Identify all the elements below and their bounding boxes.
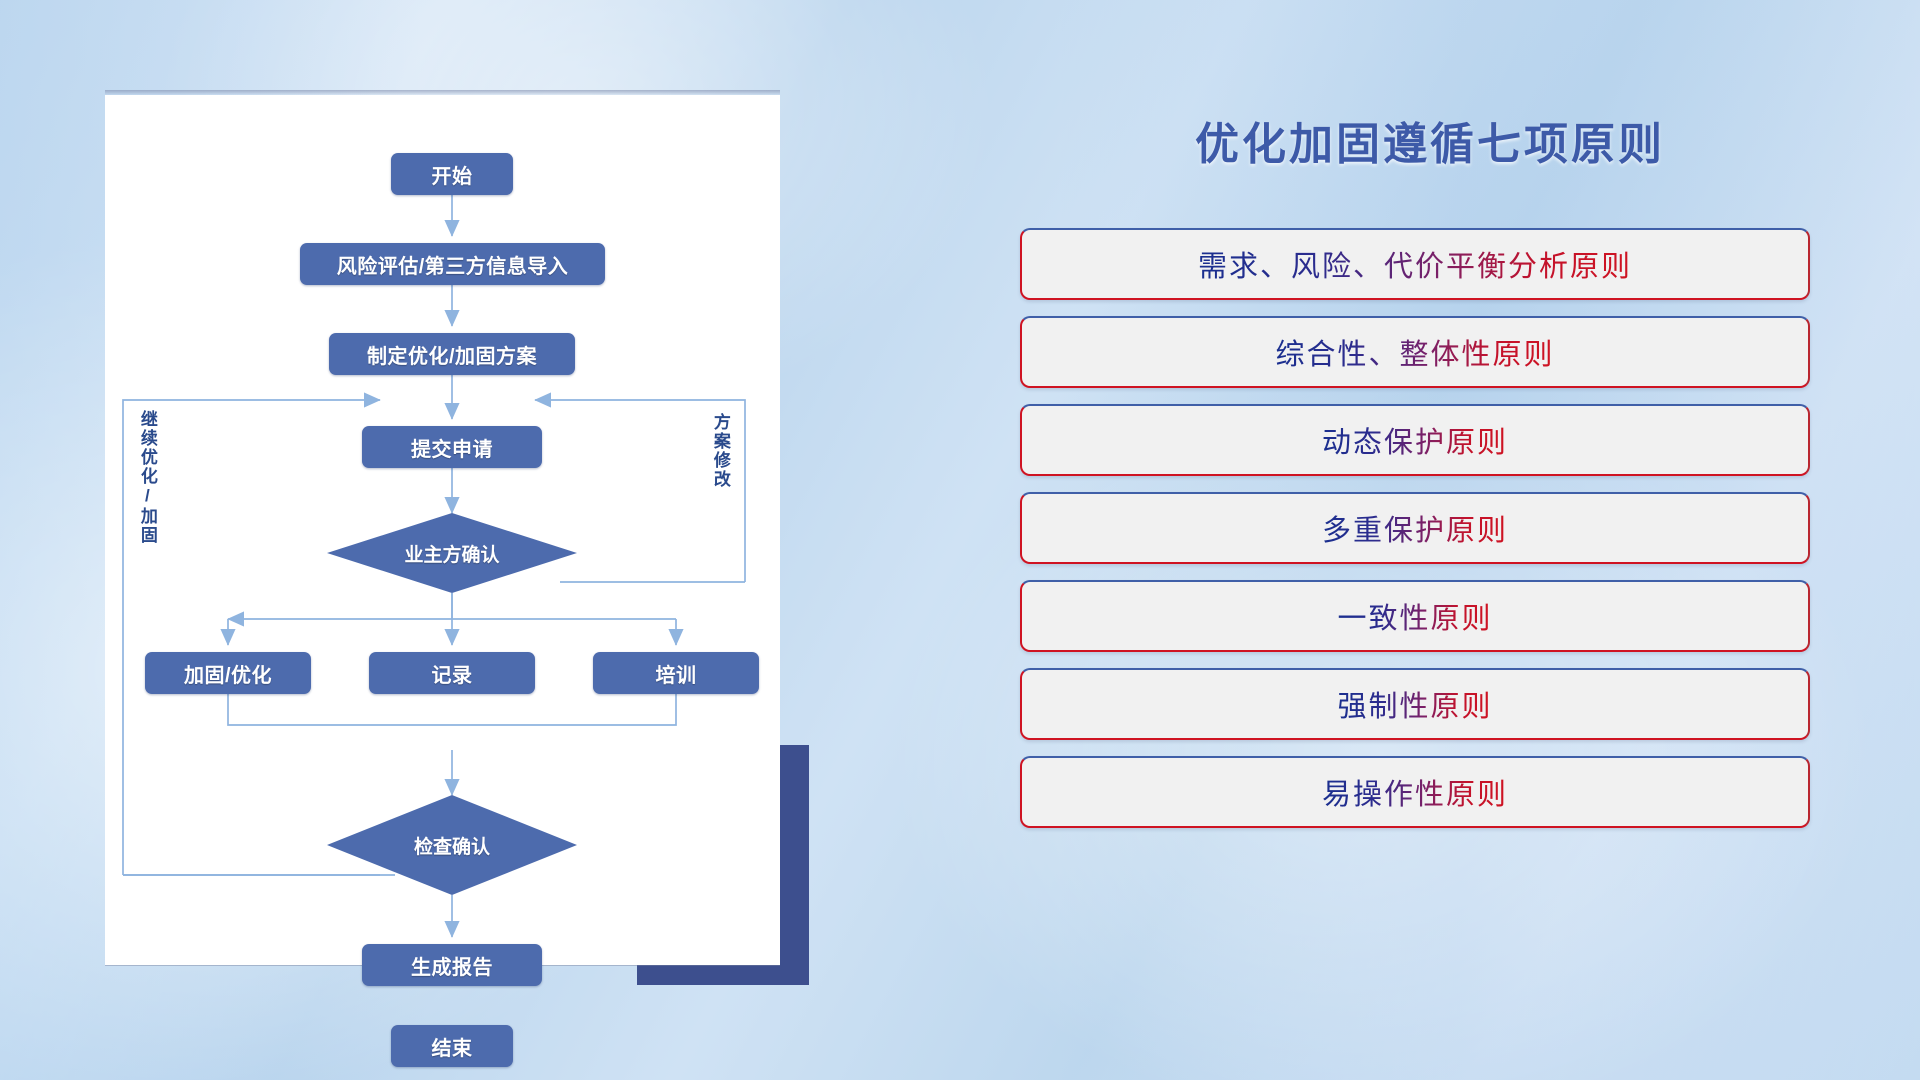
flow-node-reinforce-label: 加固/优化 [184,659,272,688]
flow-node-start-label: 开始 [432,160,473,189]
principles-list: 需求、风险、代价平衡分析原则 综合性、整体性原则 动态保护原则 多重保护原则 一… [1020,228,1810,844]
flow-decision-check-confirm-label: 检查确认 [414,832,490,859]
principle-item-1[interactable]: 需求、风险、代价平衡分析原则 [1020,228,1810,300]
flow-node-risk-assessment[interactable]: 风险评估/第三方信息导入 [300,243,605,285]
flow-node-risk-assessment-label: 风险评估/第三方信息导入 [337,250,569,279]
principle-item-5-label: 一致性原则 [1337,595,1492,637]
flow-edge-label-continue-optimize: 继续优化/加固 [138,410,156,610]
flow-node-record-label: 记录 [432,659,473,688]
principle-item-4-label: 多重保护原则 [1322,507,1508,549]
flowchart: 开始 风险评估/第三方信息导入 制定优化/加固方案 提交申请 业主方确认 加固/… [105,95,780,965]
principle-item-2[interactable]: 综合性、整体性原则 [1020,316,1810,388]
principle-item-6[interactable]: 强制性原则 [1020,668,1810,740]
flow-decision-check-confirm[interactable]: 检查确认 [327,795,577,895]
principle-item-1-label: 需求、风险、代价平衡分析原则 [1198,243,1632,285]
flow-node-end[interactable]: 结束 [391,1025,513,1067]
principle-item-7-label: 易操作性原则 [1322,771,1508,813]
principles-panel: 优化加固遵循七项原则 需求、风险、代价平衡分析原则 综合性、整体性原则 动态保护… [1020,0,1920,1080]
flow-node-submit-application[interactable]: 提交申请 [362,426,542,468]
flow-decision-owner-confirm-label: 业主方确认 [404,540,499,567]
principle-item-6-label: 强制性原则 [1337,683,1492,725]
principle-item-4[interactable]: 多重保护原则 [1020,492,1810,564]
flow-node-generate-report-label: 生成报告 [411,951,493,980]
flow-node-submit-application-label: 提交申请 [411,433,493,462]
page-title: 优化加固遵循七项原则 [1020,108,1840,172]
flow-node-end-label: 结束 [432,1032,473,1061]
flow-decision-owner-confirm[interactable]: 业主方确认 [327,513,577,593]
principle-item-3-label: 动态保护原则 [1322,419,1508,461]
flow-node-training[interactable]: 培训 [593,652,759,694]
flow-node-record[interactable]: 记录 [369,652,535,694]
principle-item-7[interactable]: 易操作性原则 [1020,756,1810,828]
principle-item-2-label: 综合性、整体性原则 [1275,331,1554,373]
flow-node-plan[interactable]: 制定优化/加固方案 [329,333,575,375]
flow-node-generate-report[interactable]: 生成报告 [362,944,542,986]
principle-item-5[interactable]: 一致性原则 [1020,580,1810,652]
flow-node-start[interactable]: 开始 [391,153,513,195]
flow-node-plan-label: 制定优化/加固方案 [367,340,537,369]
flow-edge-label-plan-revise: 方案修改 [711,413,729,553]
flowchart-card: 开始 风险评估/第三方信息导入 制定优化/加固方案 提交申请 业主方确认 加固/… [105,95,780,965]
flow-node-training-label: 培训 [656,659,697,688]
principle-item-3[interactable]: 动态保护原则 [1020,404,1810,476]
flow-node-reinforce[interactable]: 加固/优化 [145,652,311,694]
